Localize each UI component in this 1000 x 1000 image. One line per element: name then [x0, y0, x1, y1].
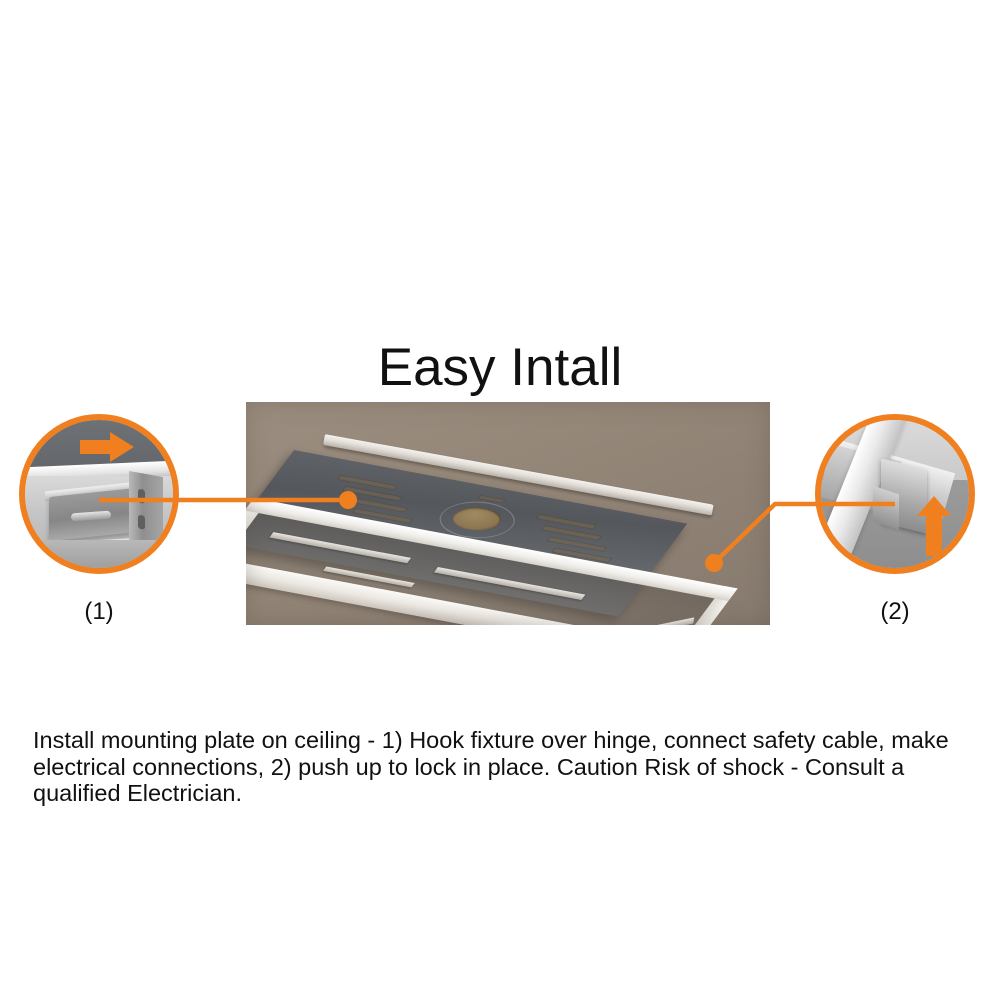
callout-label-1: (1): [19, 598, 179, 626]
callout-label-2: (2): [815, 598, 975, 626]
main-product-image: [246, 402, 770, 625]
callout-circle-2: [815, 414, 975, 574]
page-title: Easy Intall: [0, 338, 1000, 398]
diagram-canvas: Easy Intall: [0, 0, 1000, 1000]
instruction-caption: Install mounting plate on ceiling - 1) H…: [33, 727, 978, 807]
callout-circle-1: [19, 414, 179, 574]
arrow-right-icon: [80, 432, 134, 462]
arrow-up-icon: [917, 496, 951, 556]
